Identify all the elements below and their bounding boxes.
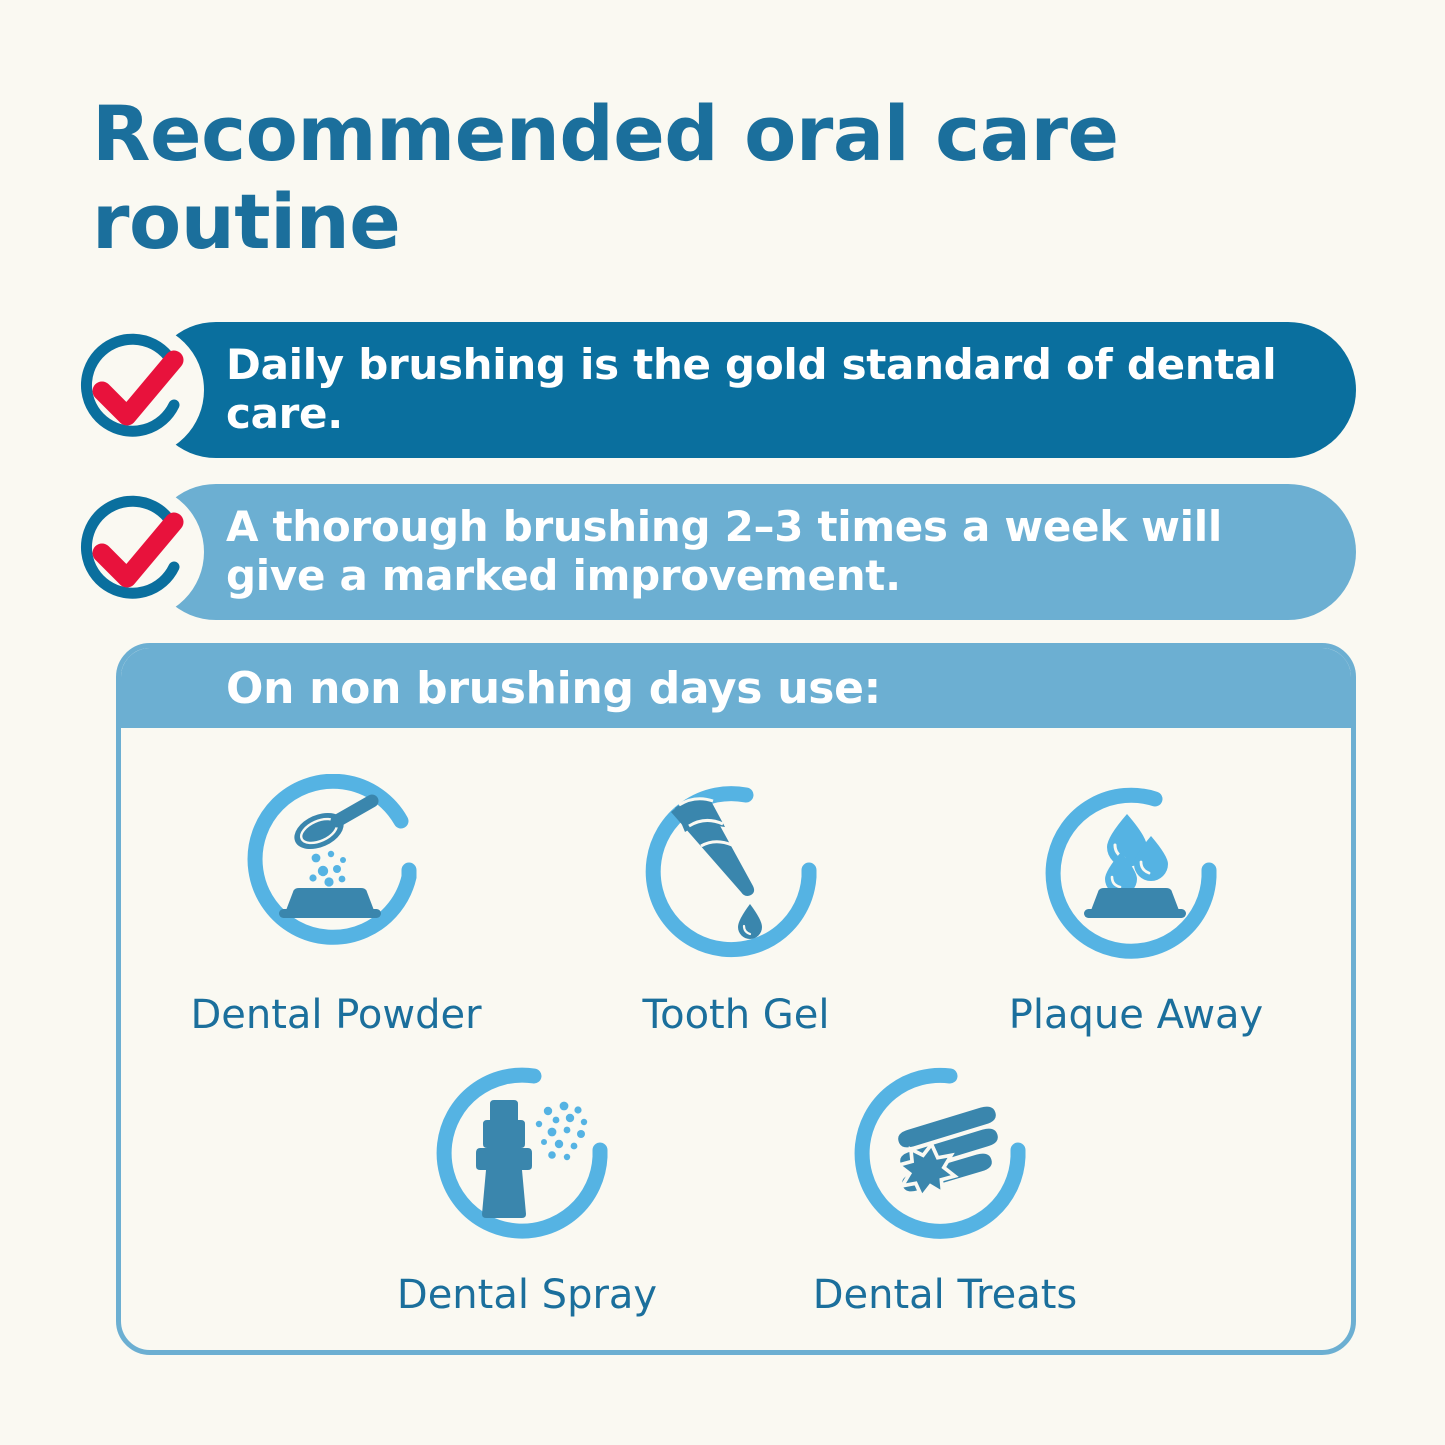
product-item-tooth-gel[interactable]: Tooth Gel [536, 774, 936, 1038]
banner-daily-brushing: Daily brushing is the gold standard of d… [148, 322, 1356, 458]
product-item-dental-powder[interactable]: Dental Powder [136, 774, 536, 1038]
product-item-plaque-away[interactable]: Plaque Away [936, 774, 1336, 1038]
product-item-dental-treats[interactable]: Dental Treats [736, 1054, 1154, 1318]
check-circle-icon [70, 323, 204, 457]
infographic-page: Recommended oral care routine Daily brus… [0, 0, 1445, 1445]
card-body: Dental Powder [121, 774, 1351, 1318]
banner-text: A thorough brushing 2–3 times a week wil… [148, 503, 1356, 600]
product-label: Tooth Gel [642, 992, 829, 1038]
product-row-top: Dental Powder [121, 774, 1351, 1038]
non-brushing-days-card: On non brushing days use: [116, 643, 1356, 1355]
check-circle-icon [70, 485, 204, 619]
water-drops-bowl-icon [1033, 774, 1239, 980]
spray-bottle-icon [424, 1054, 630, 1260]
banner-text: Daily brushing is the gold standard of d… [148, 341, 1356, 438]
product-item-dental-spray[interactable]: Dental Spray [318, 1054, 736, 1318]
product-label: Dental Powder [190, 992, 481, 1038]
product-label: Dental Spray [397, 1272, 657, 1318]
banner-thorough-brushing: A thorough brushing 2–3 times a week wil… [148, 484, 1356, 620]
page-title: Recommended oral care routine [92, 90, 1292, 266]
spoon-powder-bowl-icon [233, 774, 439, 980]
product-label: Dental Treats [813, 1272, 1078, 1318]
product-label: Plaque Away [1009, 992, 1263, 1038]
card-header: On non brushing days use: [121, 648, 1351, 728]
product-row-bottom: Dental Spray [121, 1054, 1351, 1318]
gel-tube-drop-icon [633, 774, 839, 980]
card-header-title: On non brushing days use: [226, 663, 881, 714]
dental-chew-sticks-icon [842, 1054, 1048, 1260]
